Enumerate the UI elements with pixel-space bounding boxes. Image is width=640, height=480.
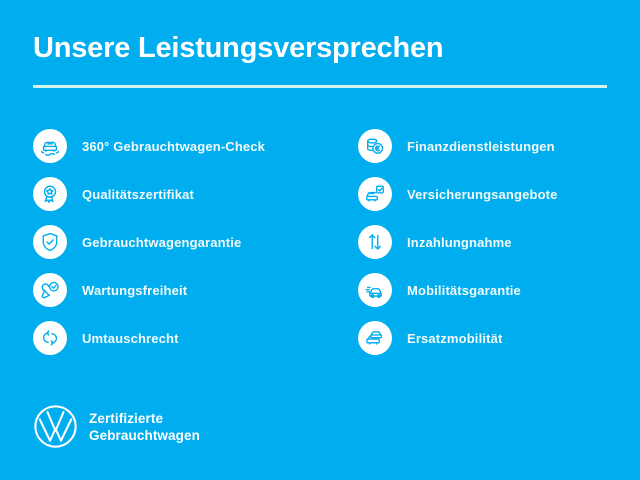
benefit-label: Wartungsfreiheit [82, 283, 187, 298]
brand-lockup-line-2: Gebrauchtwagen [89, 427, 200, 444]
benefit-label: Versicherungsangebote [407, 187, 558, 202]
shield-check-icon [33, 225, 67, 259]
benefits-right-column: Finanzdienstleistungen Versicherungsange… [329, 122, 640, 362]
brand-lockup-line-1: Zertifizierte [89, 410, 200, 427]
page-title: Unsere Leistungsversprechen [33, 30, 607, 66]
benefit-label: Qualitätszertifikat [82, 187, 194, 202]
brand-lockup: Zertifizierte Gebrauchtwagen [33, 404, 200, 449]
wrench-check-icon [33, 273, 67, 307]
car-checkbox-icon [358, 177, 392, 211]
benefits-section: 360° Gebrauchtwagen-Check Qualitätszerti… [0, 122, 640, 362]
benefit-item-finanzdienstleistungen[interactable]: Finanzdienstleistungen [358, 122, 640, 170]
coins-euro-icon [358, 129, 392, 163]
benefit-label: Finanzdienstleistungen [407, 139, 555, 154]
exchange-arrows-icon [33, 321, 67, 355]
benefit-item-versicherungsangebote[interactable]: Versicherungsangebote [358, 170, 640, 218]
up-down-arrows-icon [358, 225, 392, 259]
car-check-icon [33, 129, 67, 163]
promo-banner: Unsere Leistungsversprechen 360° Gebrauc… [0, 0, 640, 480]
award-medal-icon [33, 177, 67, 211]
benefit-label: Mobilitätsgarantie [407, 283, 521, 298]
benefit-item-mobilitaetsgarantie[interactable]: Mobilitätsgarantie [358, 266, 640, 314]
volkswagen-logo-icon [33, 404, 78, 449]
benefit-label: Gebrauchtwagengarantie [82, 235, 241, 250]
benefit-item-wartungsfreiheit[interactable]: Wartungsfreiheit [33, 266, 329, 314]
title-divider [33, 85, 607, 88]
benefit-label: Umtauschrecht [82, 331, 179, 346]
benefit-item-inzahlungnahme[interactable]: Inzahlungnahme [358, 218, 640, 266]
benefit-label: Inzahlungnahme [407, 235, 512, 250]
benefit-item-qualitaetszertifikat[interactable]: Qualitätszertifikat [33, 170, 329, 218]
car-tow-icon [358, 273, 392, 307]
header: Unsere Leistungsversprechen [33, 30, 607, 66]
benefit-label: Ersatzmobilität [407, 331, 502, 346]
benefits-left-column: 360° Gebrauchtwagen-Check Qualitätszerti… [0, 122, 329, 362]
benefit-item-gebrauchtwagengarantie[interactable]: Gebrauchtwagengarantie [33, 218, 329, 266]
two-cars-icon [358, 321, 392, 355]
benefit-item-ersatzmobilitaet[interactable]: Ersatzmobilität [358, 314, 640, 362]
benefit-item-gebrauchtwagen-check[interactable]: 360° Gebrauchtwagen-Check [33, 122, 329, 170]
benefit-label: 360° Gebrauchtwagen-Check [82, 139, 265, 154]
brand-lockup-text: Zertifizierte Gebrauchtwagen [89, 410, 200, 444]
benefit-item-umtauschrecht[interactable]: Umtauschrecht [33, 314, 329, 362]
